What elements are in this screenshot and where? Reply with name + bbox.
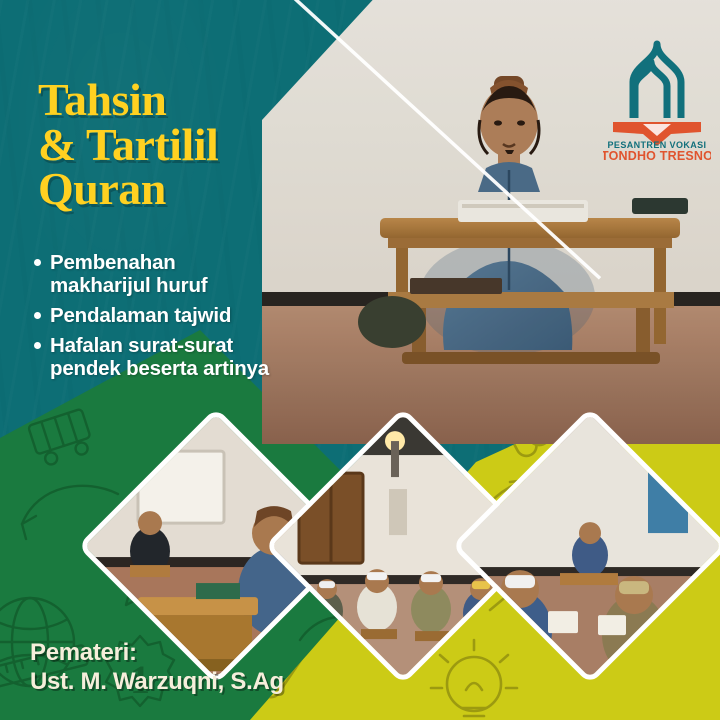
bullet-text-line-2: makharijul huruf (50, 274, 207, 297)
bullet-dot-icon (34, 312, 41, 319)
logo-text-line-2: TONDHO TRESNO (603, 149, 711, 162)
pesantren-logo-mark: PESANTREN VOKASI TONDHO TRESNO (603, 30, 711, 162)
bullet-dot-icon (34, 259, 41, 266)
bullet-text: Pendalaman tajwid (50, 305, 231, 328)
bullet-text-line-1: Pembenahan (50, 251, 176, 274)
list-item: Hafalan surat-surat pendek beserta artin… (34, 335, 334, 381)
bullet-text: Pembenahan makharijul huruf (50, 252, 207, 298)
list-item: Pembenahan makharijul huruf (34, 252, 334, 298)
bullet-text-line-1: Hafalan surat-surat (50, 334, 233, 357)
poster-title: Tahsin & Tartilil Quran (38, 78, 218, 212)
book-doodle (28, 409, 95, 468)
speaker-name: Ust. M. Warzuqni, S.Ag (30, 668, 284, 696)
pesantren-logo: PESANTREN VOKASI TONDHO TRESNO (603, 30, 711, 162)
speaker-credit: Pemateri: Ust. M. Warzuqni, S.Ag (30, 639, 284, 696)
title-line-3: Quran (38, 167, 218, 212)
poster-canvas: 1 (0, 0, 720, 720)
feature-bullet-list: Pembenahan makharijul huruf Pendalaman t… (34, 252, 334, 388)
bullet-text-line-1: Pendalaman tajwid (50, 304, 231, 327)
speaker-label: Pemateri: (30, 639, 284, 667)
list-item: Pendalaman tajwid (34, 305, 334, 328)
mosque-dome-icon (633, 44, 681, 118)
bullet-text: Hafalan surat-surat pendek beserta artin… (50, 335, 269, 381)
title-line-2: & Tartilil (38, 123, 218, 168)
bullet-dot-icon (34, 342, 41, 349)
title-line-1: Tahsin (38, 78, 218, 123)
lightbulb-doodle (431, 640, 517, 716)
bullet-text-line-2: pendek beserta artinya (50, 357, 269, 380)
